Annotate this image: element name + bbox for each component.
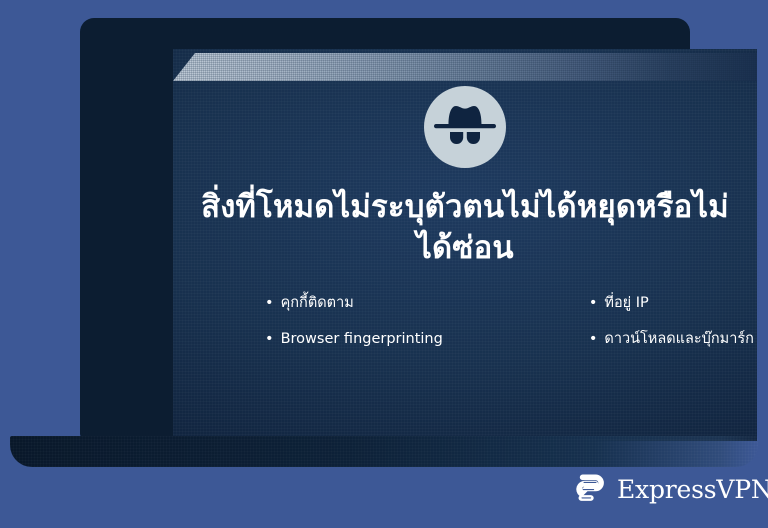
list-item: • ดาวน์โหลดและบุ๊กมาร์ก [589, 331, 754, 348]
list-item: • Browser fingerprinting [265, 331, 443, 348]
list-item: • คุกกี้ติดตาม [265, 295, 443, 312]
slide-canvas: สิ่งที่โหมดไม่ระบุตัวตนไม่ได้หยุดหรือไม่… [0, 0, 768, 528]
list-item-label: ที่อยู่ IP [604, 295, 648, 312]
expressvpn-logo: ExpressVPN [572, 472, 768, 506]
bullet-column-right: • ที่อยู่ IP • ดาวน์โหลดและบุ๊กมาร์ก [589, 295, 754, 349]
list-item-label: ดาวน์โหลดและบุ๊กมาร์ก [604, 331, 754, 348]
bullet-columns: • คุกกี้ติดตาม • Browser fingerprinting … [173, 295, 757, 349]
laptop-bezel: สิ่งที่โหมดไม่ระบุตัวตนไม่ได้หยุดหรือไม่… [80, 18, 690, 438]
list-item: • ที่อยู่ IP [589, 295, 754, 312]
slide-content: สิ่งที่โหมดไม่ระบุตัวตนไม่ได้หยุดหรือไม่… [173, 49, 757, 441]
bullet-marker-icon: • [265, 296, 274, 311]
list-item-label: Browser fingerprinting [281, 331, 443, 348]
expressvpn-wordmark: ExpressVPN [617, 477, 768, 502]
slide-title: สิ่งที่โหมดไม่ระบุตัวตนไม่ได้หยุดหรือไม่… [195, 187, 735, 269]
incognito-spy-icon [423, 85, 507, 169]
expressvpn-e-mark-icon [572, 472, 606, 506]
laptop-screen: สิ่งที่โหมดไม่ระบุตัวตนไม่ได้หยุดหรือไม่… [173, 49, 757, 441]
bullet-marker-icon: • [265, 332, 274, 347]
bullet-marker-icon: • [589, 296, 598, 311]
list-item-label: คุกกี้ติดตาม [281, 295, 354, 312]
bullet-marker-icon: • [589, 332, 598, 347]
bullet-column-left: • คุกกี้ติดตาม • Browser fingerprinting [265, 295, 443, 349]
laptop-base [10, 436, 758, 467]
